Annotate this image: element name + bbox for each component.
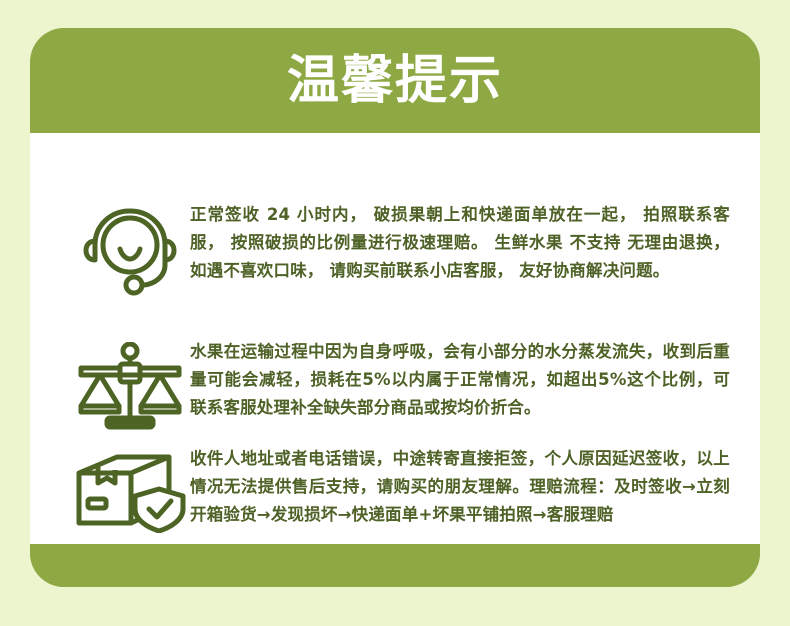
card-header: 温馨提示 (30, 28, 760, 133)
card-footer (30, 544, 760, 587)
notice-row-damage: 正常签收 24 小时内， 破损果朝上和快递面单放在一起， 拍照联系客服， 按照破… (70, 201, 730, 297)
page-title: 温馨提示 (287, 55, 503, 107)
notice-row-address: 收件人地址或者电话错误，中途转寄直接拒签，个人原因延迟签收，以上情况无法提供售后… (70, 445, 730, 533)
notice-text-address: 收件人地址或者电话错误，中途转寄直接拒签，个人原因延迟签收，以上情况无法提供售后… (190, 445, 730, 529)
notice-text-damage: 正常签收 24 小时内， 破损果朝上和快递面单放在一起， 拍照联系客服， 按照破… (190, 201, 730, 285)
package-shield-icon (70, 445, 190, 533)
customer-service-headset-icon (70, 201, 190, 297)
notice-text-weight: 水果在运输过程中因为自身呼吸，会有小部分的水分蒸发流失，收到后重量可能会减轻，损… (190, 338, 730, 422)
notice-row-weight: 水果在运输过程中因为自身呼吸，会有小部分的水分蒸发流失，收到后重量可能会减轻，损… (70, 338, 730, 430)
card-body: 正常签收 24 小时内， 破损果朝上和快递面单放在一起， 拍照联系客服， 按照破… (30, 133, 760, 544)
notice-card: 温馨提示 正常签收 24 小时内， 破损果朝上和快递面单放在一起， 拍照联系客服… (30, 28, 760, 587)
balance-scale-icon (70, 338, 190, 430)
